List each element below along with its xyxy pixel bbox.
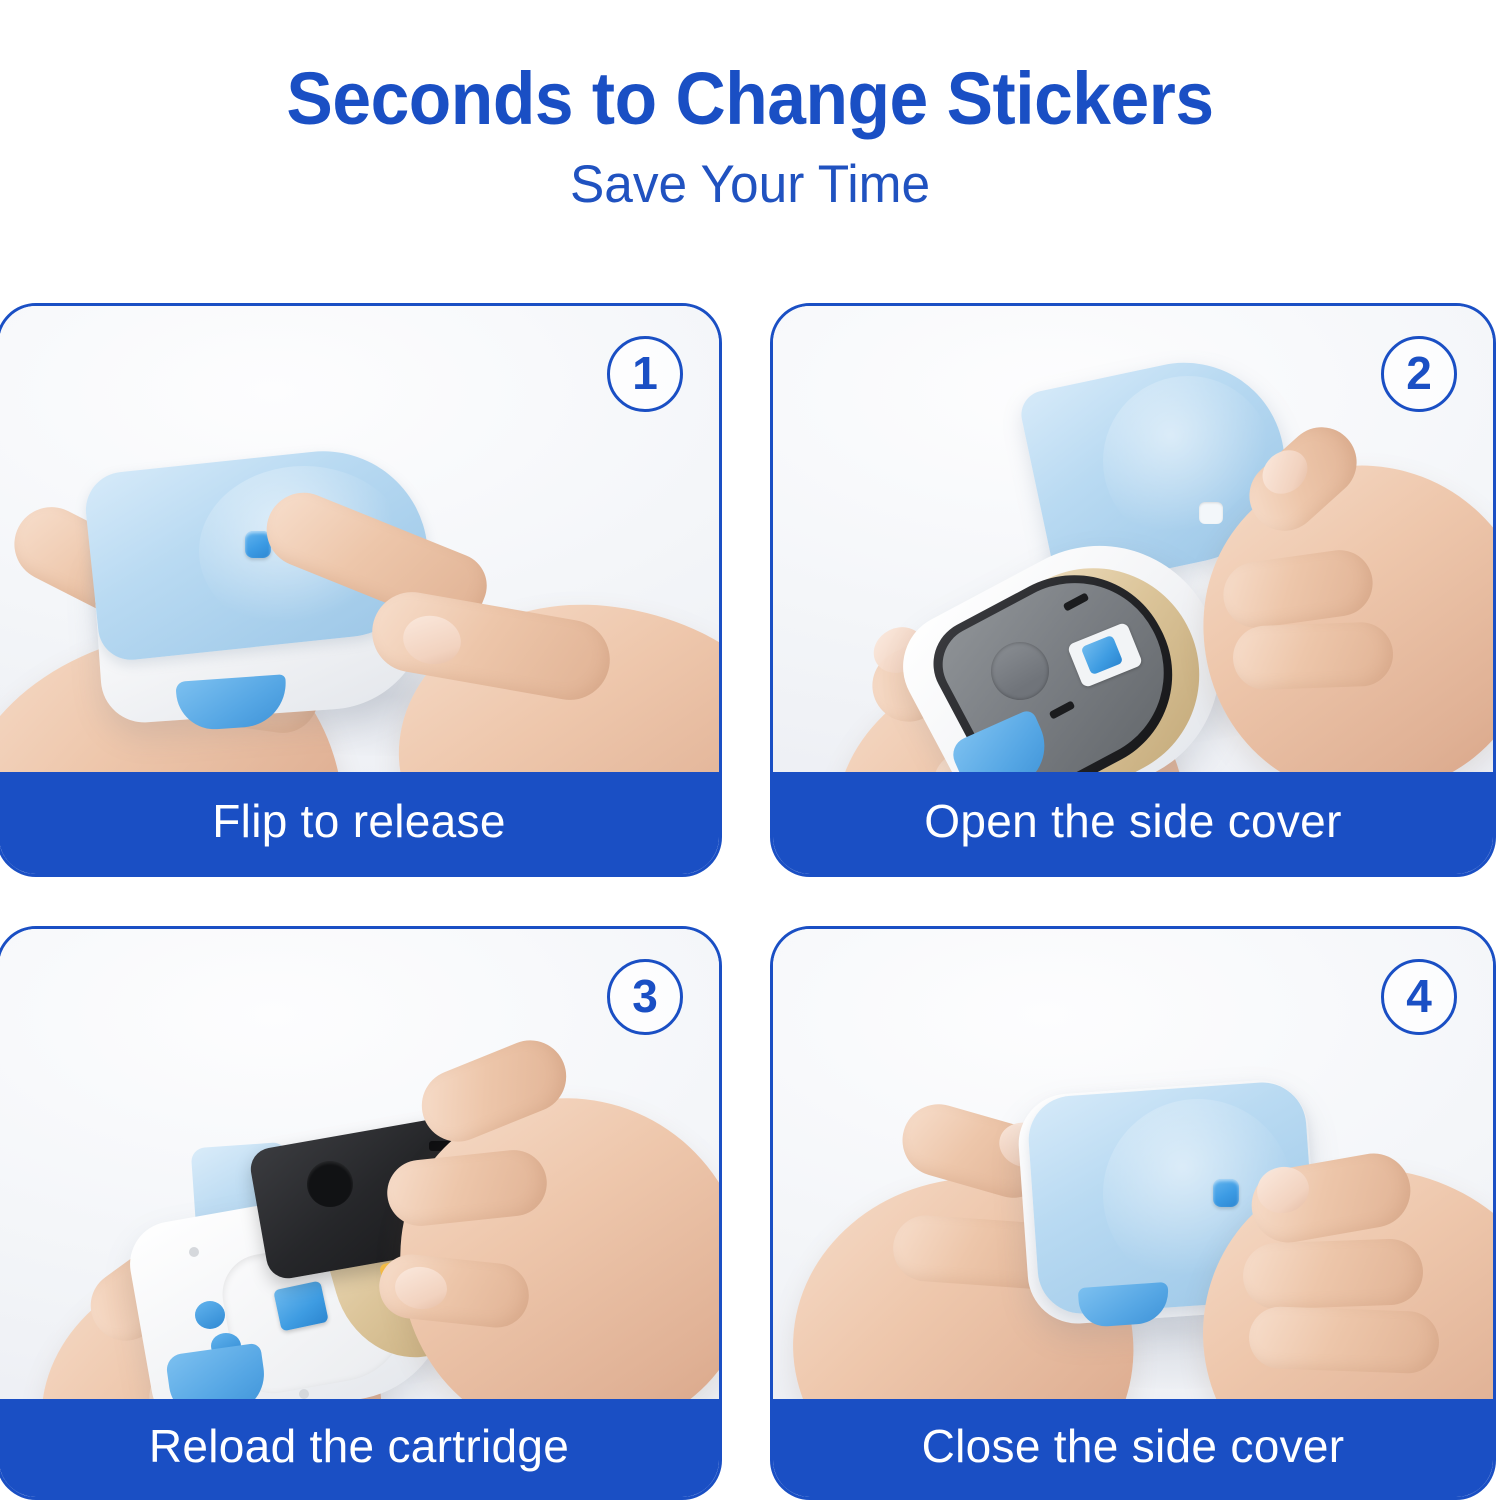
step-caption-4: Close the side cover	[773, 1399, 1493, 1497]
right-hand-index-finger	[1242, 1238, 1424, 1310]
step-card-4[interactable]: 4 Close the side cover	[770, 926, 1496, 1500]
step-caption-3: Reload the cartridge	[0, 1399, 719, 1497]
blue-knob-upper	[195, 1301, 225, 1329]
page-title: Seconds to Change Stickers	[45, 62, 1455, 136]
device-blue-tab	[1078, 1282, 1171, 1328]
spool-hub	[991, 642, 1049, 700]
steps-grid: 1 Flip to release	[0, 303, 1500, 1493]
page-header: Seconds to Change Stickers Save Your Tim…	[0, 0, 1500, 211]
step-number-badge: 3	[607, 959, 683, 1035]
step-card-2[interactable]: 2 Open the side cover	[770, 303, 1496, 877]
screw-bottom	[299, 1389, 309, 1399]
step-number-badge: 4	[1381, 959, 1457, 1035]
screw-top	[189, 1247, 199, 1257]
cover-latch-pad	[1199, 502, 1223, 524]
cartridge-hub-hole	[307, 1161, 353, 1207]
step-card-1[interactable]: 1 Flip to release	[0, 303, 722, 877]
release-button[interactable]	[1213, 1179, 1239, 1207]
step-caption-2: Open the side cover	[773, 772, 1493, 874]
right-hand-middle-finger	[1232, 621, 1394, 691]
step-number-badge: 1	[607, 336, 683, 412]
step-card-3[interactable]: 3 Reload the cartridge	[0, 926, 722, 1500]
step-number-badge: 2	[1381, 336, 1457, 412]
step-caption-1: Flip to release	[0, 772, 719, 874]
page-subtitle: Save Your Time	[23, 158, 1478, 211]
right-hand-middle-finger	[1248, 1306, 1440, 1375]
